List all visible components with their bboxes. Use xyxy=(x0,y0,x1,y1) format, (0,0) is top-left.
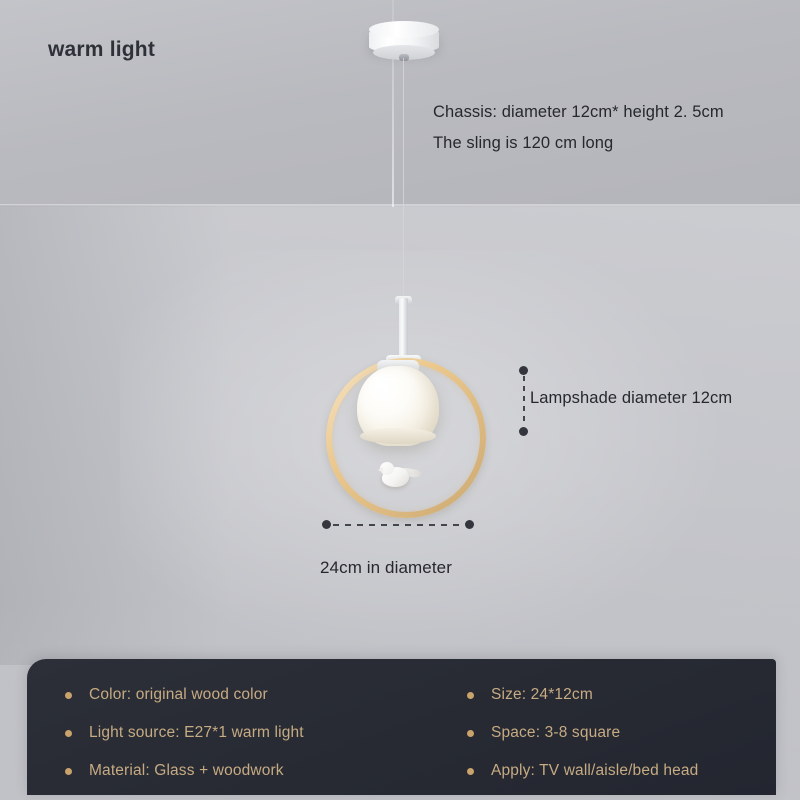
ring-dimension-marker xyxy=(322,520,474,530)
spec-label-material: Material: Glass + woodwork xyxy=(89,762,284,780)
spec-item-material: Material: Glass + woodwork xyxy=(65,753,437,789)
bird-figurine xyxy=(378,459,422,491)
ceiling-wall-seam xyxy=(0,204,800,207)
product-photo-scene: warm light Chassis: diameter 12cm* heigh… xyxy=(0,0,800,800)
spec-label-space: Space: 3-8 square xyxy=(491,724,620,742)
annotation-lampshade-diameter: Lampshade diameter 12cm xyxy=(530,389,732,408)
spec-column-left: Color: original wood color Light source:… xyxy=(27,677,437,795)
annotation-ring-diameter: 24cm in diameter xyxy=(320,558,452,578)
lampshade-rim xyxy=(360,428,436,444)
spec-panel: Color: original wood color Light source:… xyxy=(27,659,776,795)
annotation-sling: The sling is 120 cm long xyxy=(433,134,613,153)
spec-column-right: Size: 24*12cm Space: 3-8 square Apply: T… xyxy=(437,677,776,795)
spec-item-color: Color: original wood color xyxy=(65,677,437,713)
dimension-dot-right xyxy=(465,520,474,529)
bullet-icon xyxy=(65,730,72,737)
dimension-dot-bottom xyxy=(519,427,528,436)
page-title: warm light xyxy=(48,38,155,62)
dimension-line-horizontal xyxy=(333,524,464,526)
bullet-icon xyxy=(65,692,72,699)
bullet-icon xyxy=(467,730,474,737)
spec-item-size: Size: 24*12cm xyxy=(467,677,776,713)
spec-label-apply: Apply: TV wall/aisle/bed head xyxy=(491,762,698,780)
annotation-chassis: Chassis: diameter 12cm* height 2. 5cm xyxy=(433,103,724,122)
bullet-icon xyxy=(65,768,72,775)
spec-item-light-source: Light source: E27*1 warm light xyxy=(65,715,437,751)
canopy-top-face xyxy=(369,21,439,38)
spec-label-color: Color: original wood color xyxy=(89,686,268,704)
bird-beak xyxy=(378,467,383,473)
bullet-icon xyxy=(467,692,474,699)
suspension-cord xyxy=(403,58,405,300)
bullet-icon xyxy=(467,768,474,775)
dimension-dot-top xyxy=(519,366,528,375)
spec-item-apply: Apply: TV wall/aisle/bed head xyxy=(467,753,776,789)
spec-label-light-source: Light source: E27*1 warm light xyxy=(89,724,304,742)
spec-label-size: Size: 24*12cm xyxy=(491,686,593,704)
dimension-dot-left xyxy=(322,520,331,529)
lamp-stem xyxy=(399,298,408,360)
spec-item-space: Space: 3-8 square xyxy=(467,715,776,751)
dimension-line-vertical xyxy=(523,376,525,426)
ceiling-canopy xyxy=(369,21,439,59)
lampshade-dimension-marker xyxy=(519,366,529,436)
